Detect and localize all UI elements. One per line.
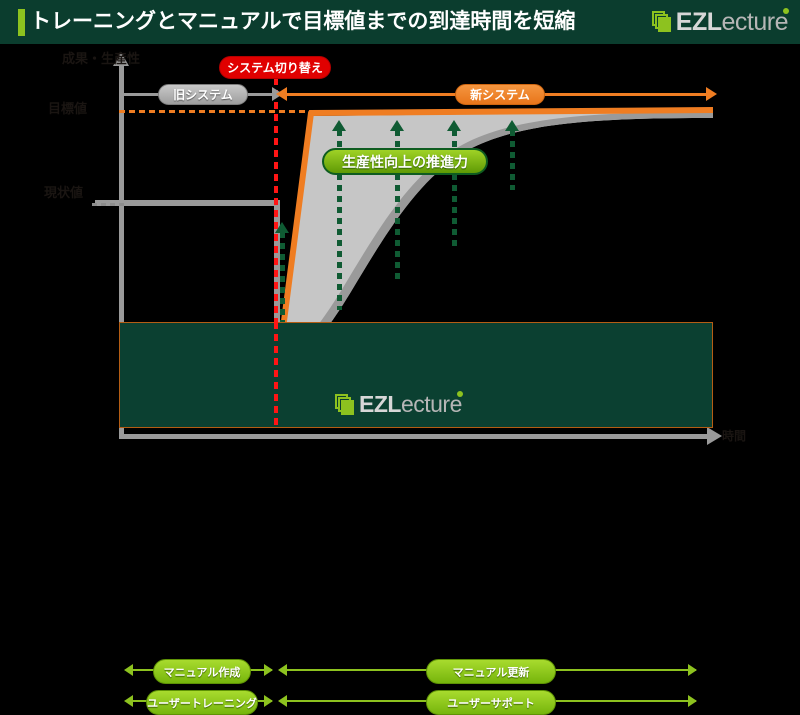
row1-left-arrowhead-right [264,664,273,676]
row1-right-arrowhead-right [688,664,697,676]
panel-pill-user-support: ユーザーサポート [426,690,556,715]
panel-logo-dot-icon [457,391,463,397]
panel-pill-manual-update: マニュアル更新 [426,659,556,684]
row2-left-arrowhead-right [264,695,273,707]
row1-left-arrowhead [124,664,133,676]
gap-arrow-head-4 [447,120,461,131]
target-value-reference-line [119,110,713,113]
x-axis [119,434,709,439]
new-system-arrowhead-right [706,87,717,101]
x-axis-label: 時間 [722,427,746,444]
y-axis-label: 成果・生産性 [62,48,140,67]
new-system-arrowhead-left [276,87,287,101]
panel-pill-user-training: ユーザートレーニング [146,690,258,715]
old-system-badge: 旧システム [158,84,248,105]
stacked-squares-icon-panel [335,394,355,416]
y-axis-target-label: 目標値 [48,98,87,117]
panel-logo-ez: EZL [359,391,401,417]
current-value-reference-line [92,203,124,206]
gap-arrow-shaft-5 [510,130,515,190]
row2-right-arrowhead-left [278,695,287,707]
row2-left-arrowhead [124,695,133,707]
panel-pill-manual-creation: マニュアル作成 [153,659,251,684]
gap-arrow-head-5 [505,120,519,131]
slide-canvas: トレーニングとマニュアルで目標値までの到達時間を短縮 EZLecture 成果・… [0,0,800,450]
row2-right-arrowhead-right [688,695,697,707]
gap-arrow-head-3 [390,120,404,131]
row1-right-arrowhead-left [278,664,287,676]
productivity-driver-callout: 生産性向上の推進力 [322,148,488,175]
new-system-badge: 新システム [455,84,545,105]
switchover-marker-line-panel [274,322,278,428]
y-axis-current-label: 現状値 [44,182,83,201]
gap-arrow-head-1 [275,222,289,233]
panel-logo-ecture: ecture [401,391,462,417]
gap-arrow-head-2 [332,120,346,131]
panel-logo-text: EZLecture [359,393,462,416]
switchover-badge: システム切り替え [219,56,331,79]
x-axis-arrowhead [707,427,722,445]
panel-logo: EZLecture [335,393,462,416]
